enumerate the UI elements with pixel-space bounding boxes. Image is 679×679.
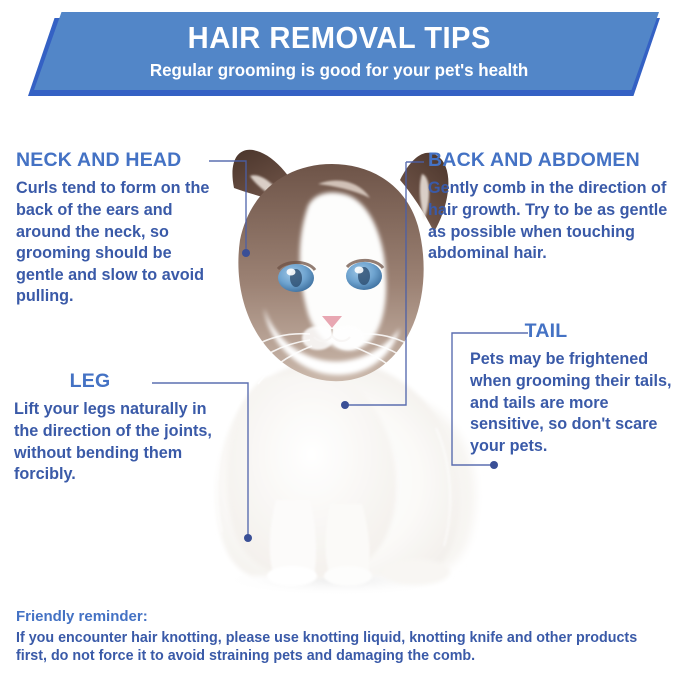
callout-tail: TAIL Pets may be frightened when groomin… <box>470 321 676 457</box>
friendly-reminder-body: If you encounter hair knotting, please u… <box>16 629 666 666</box>
callout-neck-and-head-body: Curls tend to form on the back of the ea… <box>16 178 221 307</box>
callout-tail-body: Pets may be frightened when grooming the… <box>470 349 676 457</box>
callout-leg-title: LEG <box>14 371 166 392</box>
callout-neck-and-head-title: NECK AND HEAD <box>16 150 221 171</box>
banner-main-shape <box>34 12 659 90</box>
callout-back-and-abdomen: BACK AND ABDOMEN Gently comb in the dire… <box>428 150 676 265</box>
callout-back-and-abdomen-body: Gently comb in the direction of hair gro… <box>428 178 676 264</box>
header-banner: HAIR REMOVAL TIPS Regular grooming is go… <box>0 0 679 104</box>
callout-leg-body: Lift your legs naturally in the directio… <box>14 399 226 485</box>
friendly-reminder-section: Friendly reminder: If you encounter hair… <box>16 608 666 666</box>
callout-leg: LEG Lift your legs naturally in the dire… <box>14 371 226 486</box>
callout-neck-and-head: NECK AND HEAD Curls tend to form on the … <box>16 150 221 308</box>
callout-back-and-abdomen-title: BACK AND ABDOMEN <box>428 150 676 171</box>
callout-tail-title: TAIL <box>470 321 622 342</box>
friendly-reminder-heading: Friendly reminder: <box>16 608 666 627</box>
